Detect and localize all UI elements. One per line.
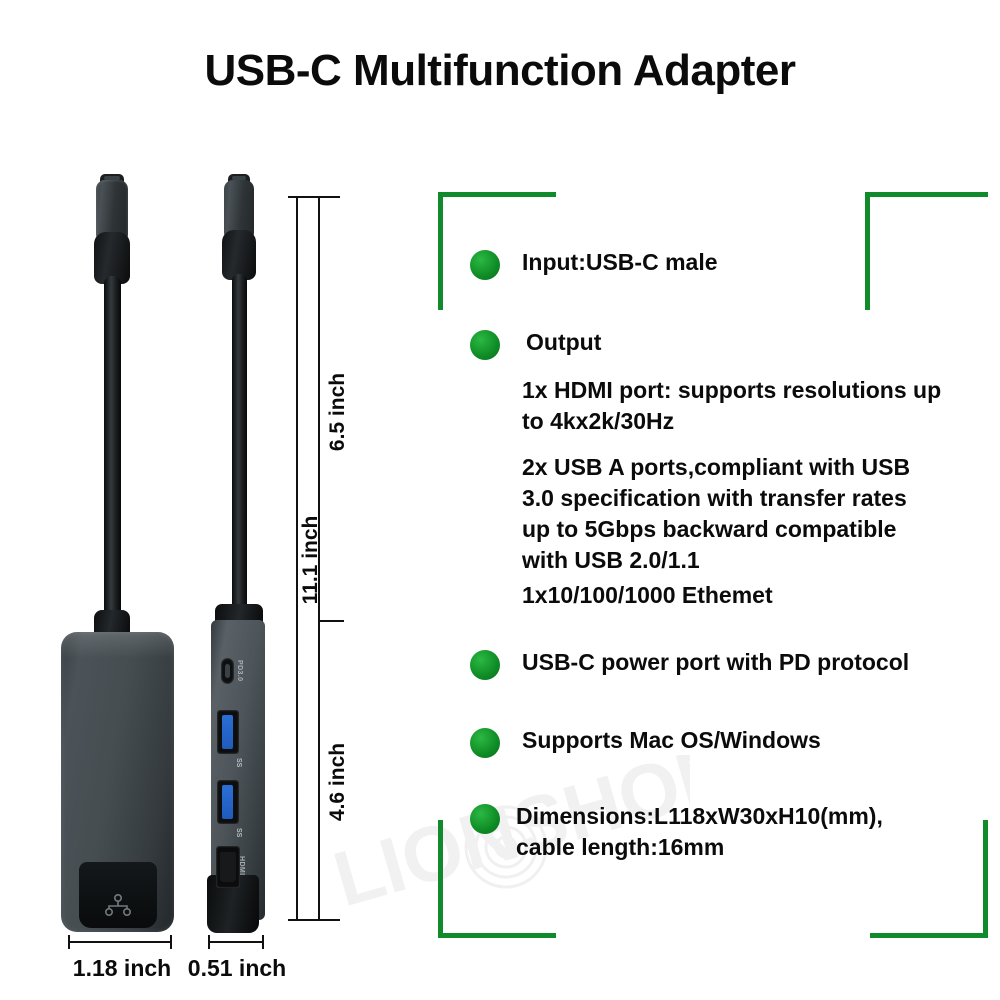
- dim-tick-width-front-left: [68, 935, 70, 949]
- port-label-ss-2: SS: [235, 828, 242, 837]
- usb-c-cable-side: [232, 274, 247, 620]
- port-usb-c-pd: [221, 658, 234, 684]
- spec-item-usb-a: 2x USB A ports,compliant with USB 3.0 sp…: [522, 452, 1000, 576]
- dim-bracket-width-front: [68, 941, 172, 943]
- spec-item-input: Input:USB-C male: [522, 247, 992, 278]
- specification-list: Input:USB-C male Output 1x HDMI port: su…: [432, 190, 992, 930]
- spec-item-ethernet: 1x10/100/1000 Ethemet: [522, 580, 1000, 611]
- dim-bracket-width-side: [208, 941, 264, 943]
- hub-body-front: [61, 632, 174, 932]
- port-hdmi: [216, 846, 240, 888]
- dim-tick-middle: [318, 620, 344, 622]
- bullet-icon-output: [470, 330, 500, 360]
- dim-label-body-width: 1.18 inch: [62, 955, 182, 982]
- page-title: USB-C Multifunction Adapter: [0, 46, 1000, 96]
- usb-c-plug-head: [96, 180, 128, 240]
- bullet-icon-os-support: [470, 728, 500, 758]
- spec-item-os-support: Supports Mac OS/Windows: [522, 725, 1000, 756]
- dim-tick-width-side-left: [208, 935, 210, 949]
- bullet-icon-power: [470, 650, 500, 680]
- dim-label-body-thickness: 0.51 inch: [178, 955, 296, 982]
- dim-line-total: [296, 196, 298, 920]
- port-label-hdmi: HDMI: [238, 856, 245, 876]
- cable-strain-relief-top-side: [222, 230, 256, 280]
- port-label-ss-1: SS: [235, 758, 242, 767]
- port-usb-a-1: [217, 710, 239, 754]
- dim-label-body-length: 4.6 inch: [326, 732, 350, 832]
- product-photo-side-view: PD3.0 SS SS HDMI: [205, 180, 275, 935]
- ethernet-network-icon: [103, 894, 133, 918]
- spec-item-dimensions: Dimensions:L118xW30xH10(mm), cable lengt…: [516, 801, 1000, 863]
- bullet-icon-input: [470, 250, 500, 280]
- product-photo-front-view: [60, 180, 190, 935]
- dim-label-cable-length: 6.5 inch: [326, 362, 350, 462]
- dim-tick-cable-top: [310, 196, 340, 198]
- port-usb-a-2: [217, 780, 239, 824]
- usb-c-cable: [104, 276, 121, 638]
- hub-body-highlight: [61, 632, 174, 658]
- bullet-icon-dimensions: [470, 804, 500, 834]
- dim-tick-body-bottom: [310, 919, 340, 921]
- dim-line-segments: [318, 196, 320, 920]
- ethernet-port-bay: [79, 862, 157, 928]
- spec-item-hdmi: 1x HDMI port: supports resolutions up to…: [522, 375, 1000, 437]
- port-label-pd: PD3.0: [236, 660, 243, 681]
- spec-item-power: USB-C power port with PD protocol: [522, 647, 1000, 678]
- spec-item-output: Output: [526, 327, 996, 358]
- dim-tick-width-side-right: [262, 935, 264, 949]
- dim-tick-width-front-right: [170, 935, 172, 949]
- infographic-canvas: USB-C Multifunction Adapter LIONSHOP: [0, 0, 1000, 1000]
